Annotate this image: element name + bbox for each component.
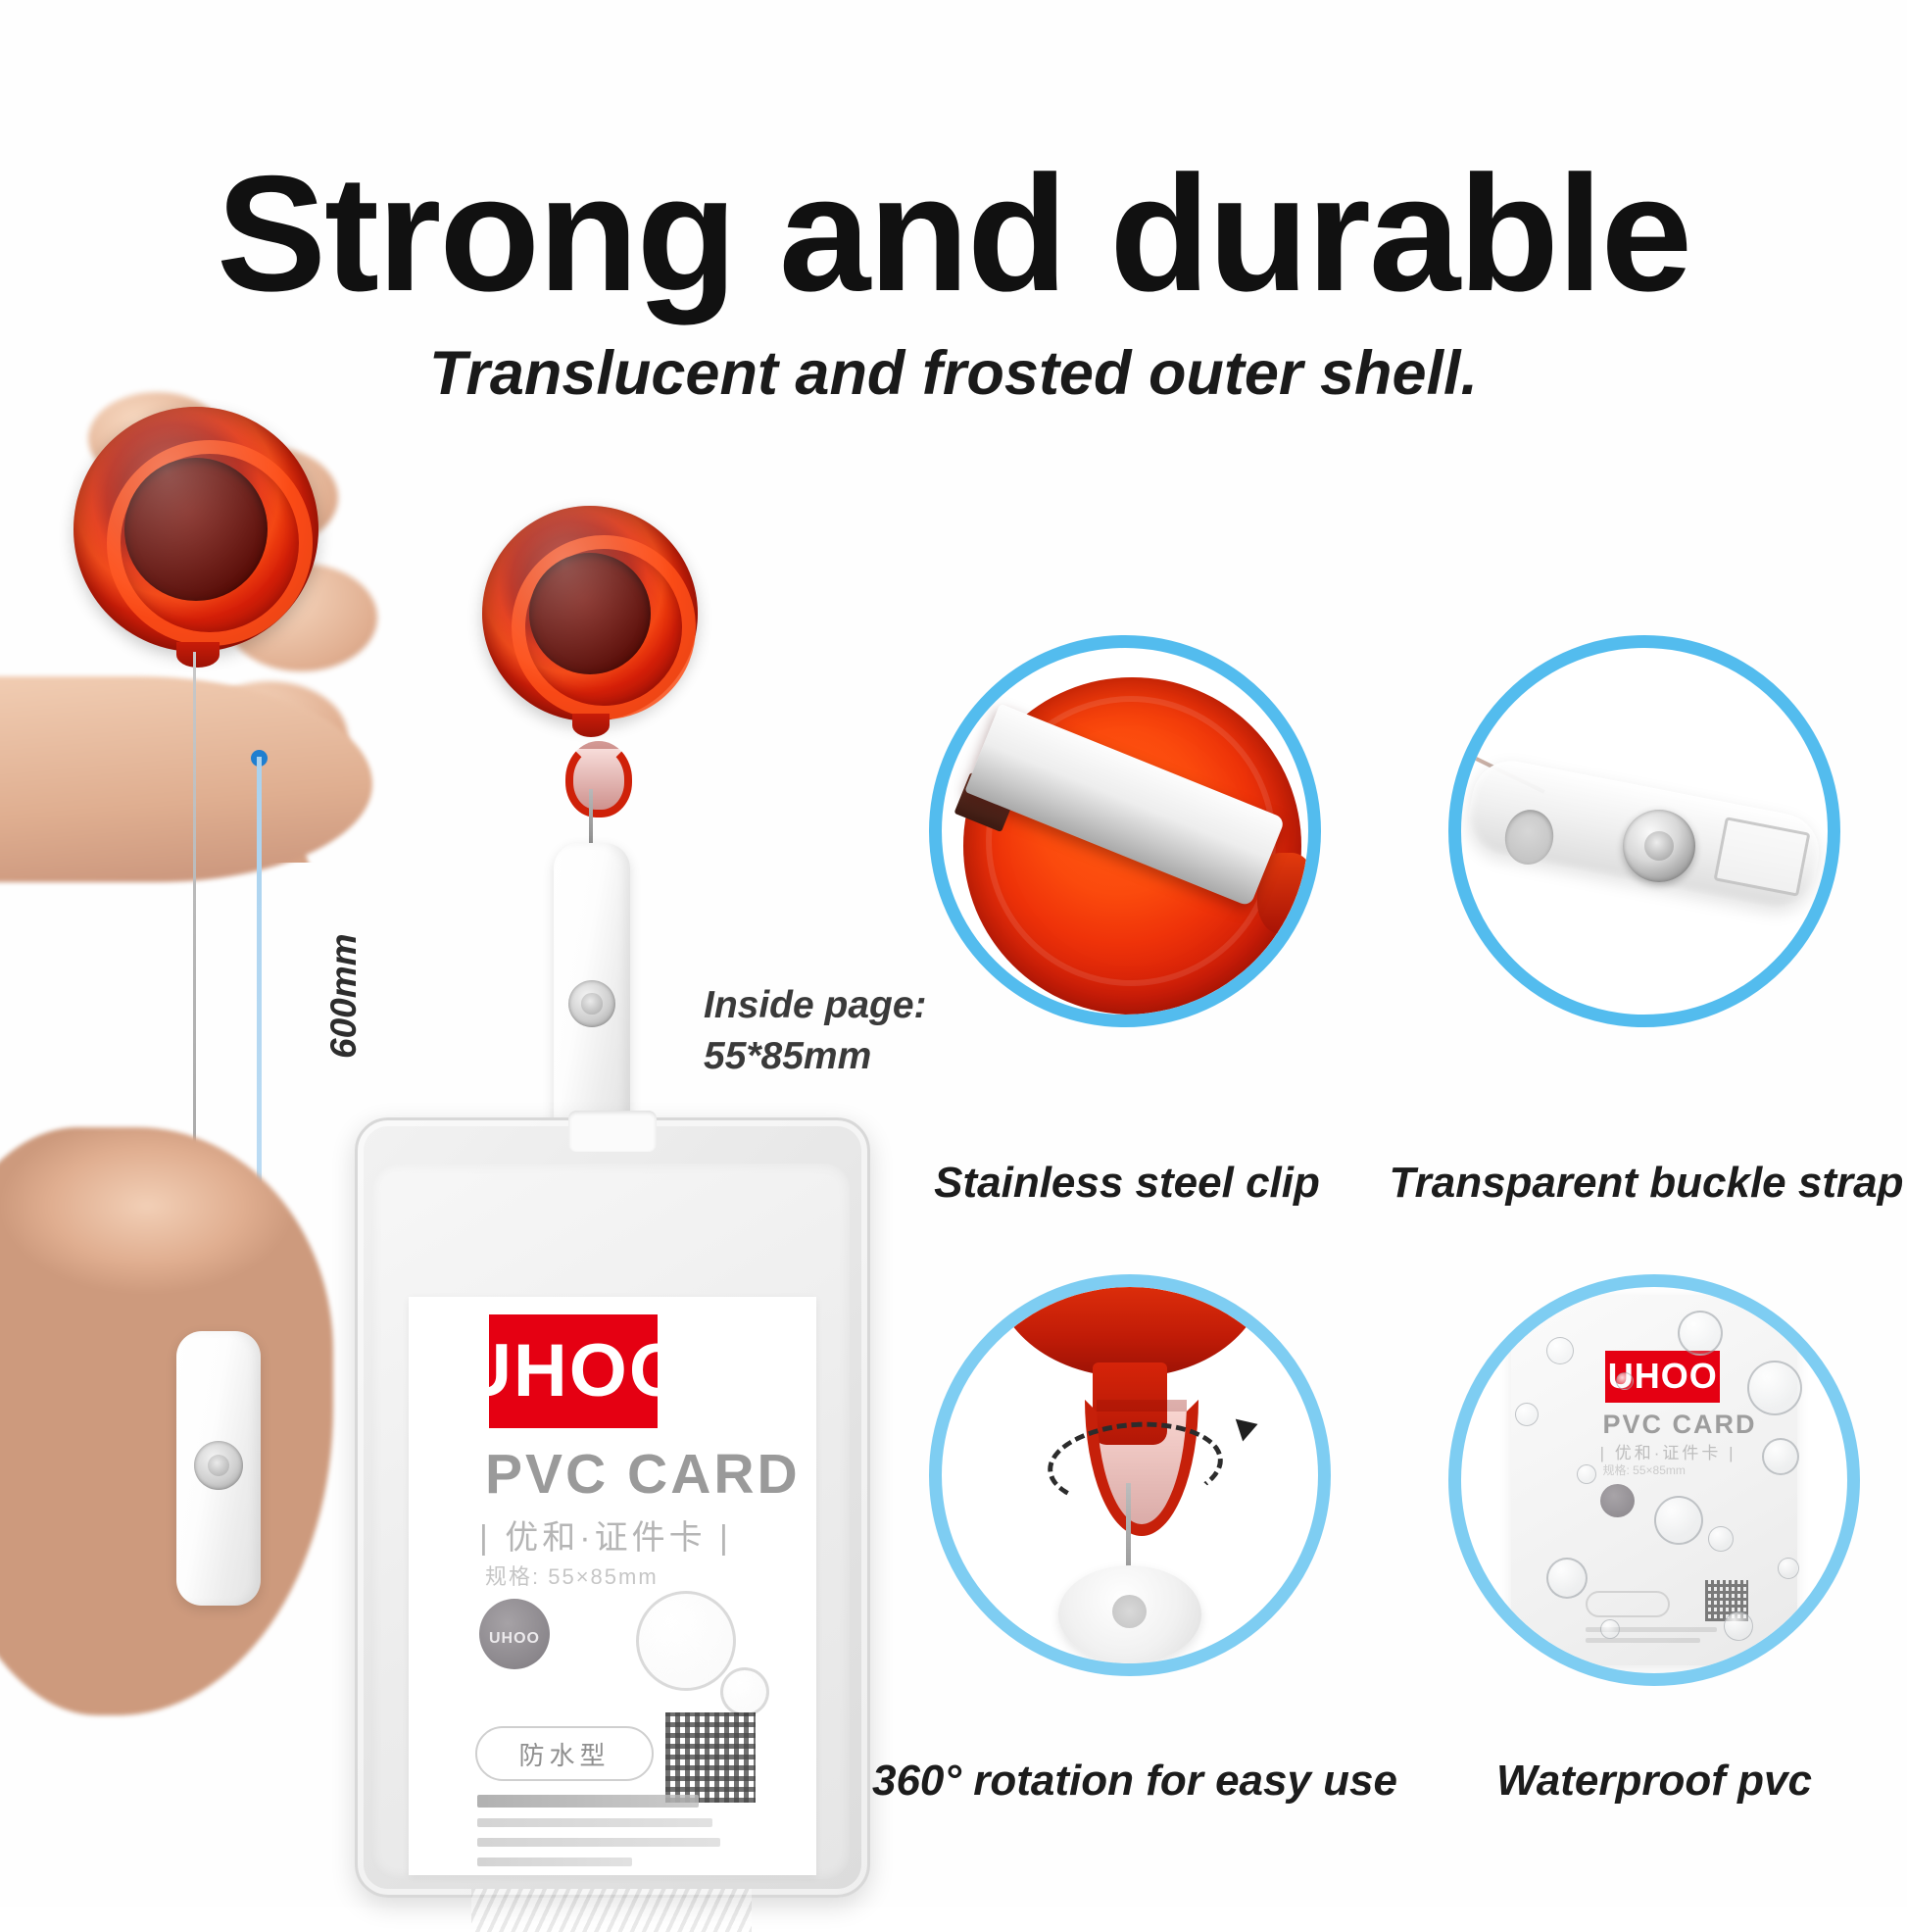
inside-page-note-line2: 55*85mm: [704, 1031, 927, 1082]
bubble-small-icon: [720, 1667, 769, 1716]
card-insert: UHOO PVC CARD | 优和·证件卡 | 规格: 55×85mm UHO…: [409, 1297, 816, 1875]
waterproof-size-line: 规格: 55×85mm: [1603, 1461, 1686, 1478]
pvc-card-label: PVC CARD: [485, 1442, 801, 1507]
uhoo-seal-badge: UHOO: [479, 1599, 550, 1669]
feature-waterproof-pvc: UHOO PVC CARD | 优和·证件卡 | 规格: 55×85mm: [1448, 1274, 1860, 1686]
page-title: Strong and durable: [0, 147, 1907, 320]
product-infographic: Strong and durable Translucent and frost…: [0, 0, 1907, 1907]
card-holder-pouch: UHOO PVC CARD | 优和·证件卡 | 规格: 55×85mm UHO…: [355, 1117, 870, 1898]
strap-snap-button-left: [194, 1441, 243, 1490]
inside-page-note-line1: Inside page:: [704, 980, 927, 1031]
feature-transparent-buckle-strap: [1448, 635, 1840, 1027]
uhoo-seal-text: UHOO: [479, 1630, 550, 1648]
badge-reel-front: [482, 506, 698, 721]
snap-button-icon: [1623, 810, 1696, 883]
waterproof-pill-text: 防水型: [518, 1736, 610, 1772]
chinese-subtitle: | 优和·证件卡 |: [479, 1511, 732, 1559]
uhoo-logo-text: UHOO: [458, 1334, 689, 1409]
rotation-arrow-icon: [1045, 1416, 1226, 1513]
feature-caption-transparent-buckle-strap: Transparent buckle strap: [1372, 1159, 1907, 1208]
badge-reel-pin: [589, 789, 593, 846]
inside-page-note: Inside page: 55*85mm: [704, 980, 927, 1083]
feature-360-rotation: [929, 1274, 1331, 1676]
fine-print-line-1: [477, 1795, 699, 1808]
badge-reel-in-hand: [73, 407, 318, 652]
waterproof-pvc-label: PVC CARD: [1603, 1410, 1757, 1440]
barcode-strip: [471, 1889, 752, 1932]
hand-holding-vinyl-strap: [0, 1127, 333, 1715]
card-holder-slot: [568, 1111, 657, 1152]
feature-caption-360-rotation: 360° rotation for easy use: [811, 1757, 1458, 1806]
strap-snap-button-center: [568, 980, 615, 1027]
fine-print-line-4: [477, 1858, 632, 1866]
fine-print-line-2: [477, 1818, 712, 1827]
badge-reel-hook: [565, 741, 632, 817]
fine-print-line-3: [477, 1838, 720, 1847]
feature-stainless-steel-clip: [929, 635, 1321, 1027]
feature-caption-waterproof-pvc: Waterproof pvc: [1429, 1757, 1880, 1806]
bubble-large-icon: [636, 1591, 736, 1691]
uhoo-logo-box: UHOO: [489, 1314, 658, 1428]
dimension-label: 600mm: [323, 933, 365, 1059]
feature-caption-stainless-steel-clip: Stainless steel clip: [862, 1159, 1392, 1208]
waterproof-chinese-line: | 优和·证件卡 |: [1600, 1439, 1736, 1463]
qr-code: [665, 1712, 756, 1803]
waterproof-pill-label: 防水型: [475, 1726, 654, 1781]
card-size-line: 规格: 55×85mm: [485, 1560, 659, 1591]
